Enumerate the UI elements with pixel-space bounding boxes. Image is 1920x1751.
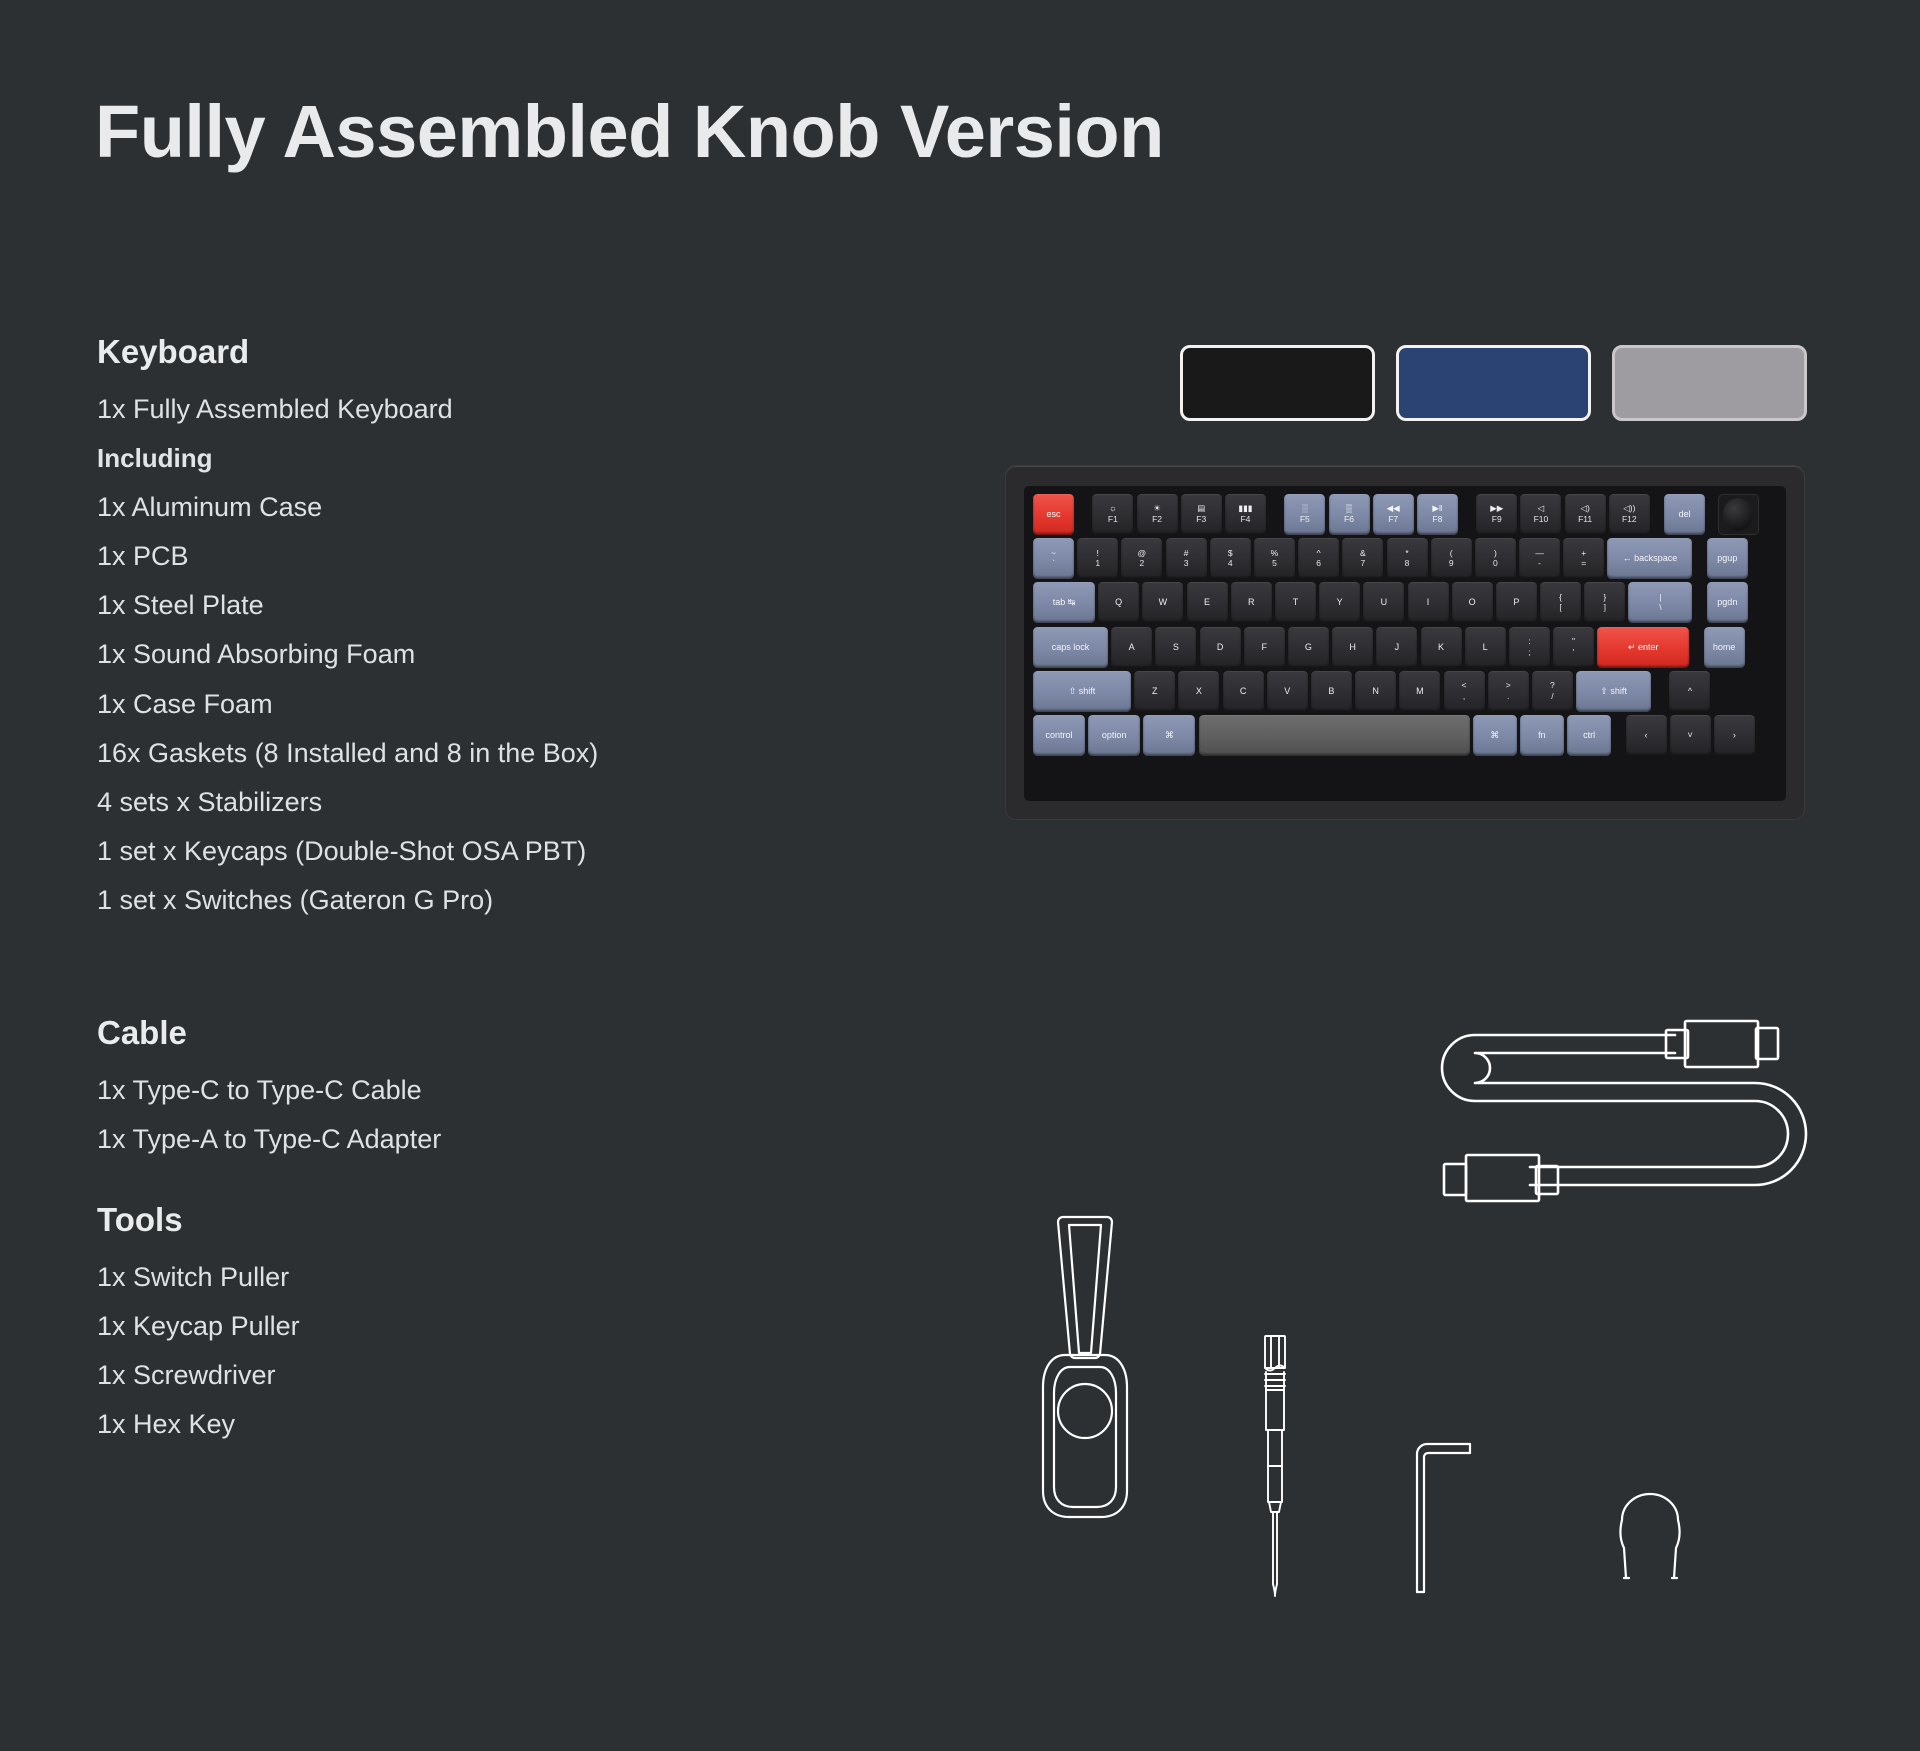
key-enter[interactable]: ↵ enter	[1597, 627, 1689, 668]
key-4[interactable]: $4	[1210, 538, 1251, 579]
color-swatch-shell-white-grey[interactable]	[1612, 345, 1807, 421]
key-bracket-right[interactable]: }]	[1584, 582, 1625, 623]
row-gap	[1461, 494, 1473, 535]
key-f4[interactable]: ▮▮▮F4	[1225, 494, 1266, 535]
arrow-up-icon: ^	[1688, 687, 1692, 696]
key-1[interactable]: !1	[1077, 538, 1118, 579]
hex-key-icon	[1412, 1432, 1482, 1602]
key-equal[interactable]: +=	[1563, 538, 1604, 579]
key-8[interactable]: *8	[1387, 538, 1428, 579]
backlight-up-icon: ▒	[1346, 504, 1352, 514]
keyboard-row-home: caps lock A S D F G H J K L :; "' ↵ ente…	[1033, 627, 1777, 668]
switch-puller-illustration	[1035, 1205, 1135, 1525]
row-gap	[1654, 671, 1666, 712]
key-f1[interactable]: ☼F1	[1092, 494, 1133, 535]
key-arrow-down[interactable]: ˅	[1670, 715, 1711, 756]
key-f8[interactable]: ▶‖F8	[1417, 494, 1458, 535]
hex-key-illustration	[1412, 1432, 1482, 1602]
key-r[interactable]: R	[1231, 582, 1272, 623]
mission-control-icon: ▤	[1197, 504, 1205, 514]
key-5[interactable]: %5	[1254, 538, 1295, 579]
key-tab[interactable]: tab ↹	[1033, 582, 1095, 623]
color-swatch-carbon-black[interactable]	[1180, 345, 1375, 421]
key-m[interactable]: M	[1399, 671, 1440, 712]
key-arrow-up[interactable]: ^	[1669, 671, 1710, 712]
spec-item: 1x Steel Plate	[97, 581, 917, 630]
key-q[interactable]: Q	[1098, 582, 1139, 623]
key-j[interactable]: J	[1376, 627, 1417, 668]
key-fn[interactable]: fn	[1520, 715, 1564, 756]
knob-dial-icon	[1723, 498, 1753, 531]
keyboard-row-bottom: control option ⌘ ⌘ fn ctrl ‹ ˅ ›	[1033, 715, 1777, 756]
key-b[interactable]: B	[1311, 671, 1352, 712]
row-gap	[1692, 627, 1700, 668]
key-backspace[interactable]: ← backspace	[1607, 538, 1692, 579]
key-f9[interactable]: ▶▶F9	[1476, 494, 1517, 535]
wire-keycap-puller-illustration	[1610, 1478, 1690, 1588]
section-spacer	[97, 1164, 917, 1198]
key-7[interactable]: &7	[1342, 538, 1383, 579]
key-2[interactable]: @2	[1121, 538, 1162, 579]
key-quote[interactable]: "'	[1553, 627, 1594, 668]
arrow-down-icon: ˅	[1688, 731, 1693, 740]
keycap-puller-icon	[1610, 1478, 1690, 1588]
key-comma[interactable]: <,	[1444, 671, 1485, 712]
key-home[interactable]: home	[1704, 627, 1745, 668]
key-shift-right[interactable]: ⇧ shift	[1576, 671, 1651, 712]
key-f12[interactable]: ◁))F12	[1609, 494, 1650, 535]
key-s[interactable]: S	[1155, 627, 1196, 668]
key-backslash[interactable]: |\	[1628, 582, 1692, 623]
rotary-knob[interactable]	[1718, 494, 1759, 535]
launchpad-icon: ▮▮▮	[1238, 504, 1252, 514]
row-gap	[1708, 494, 1714, 535]
section-heading-tools: Tools	[97, 1198, 917, 1243]
key-9[interactable]: (9	[1431, 538, 1472, 579]
key-arrow-right[interactable]: ›	[1714, 715, 1755, 756]
page-title: Fully Assembled Knob Version	[95, 95, 1164, 169]
key-ctrl-right[interactable]: ctrl	[1567, 715, 1611, 756]
spec-list: Keyboard 1x Fully Assembled Keyboard Inc…	[97, 330, 917, 1449]
row-gap	[1614, 715, 1622, 756]
cable-icon	[1420, 1005, 1810, 1220]
screwdriver-icon	[1255, 1330, 1295, 1600]
section-spacer	[97, 925, 917, 1011]
keyboard-image: esc ☼F1 ☀F2 ▤F3 ▮▮▮F4 ░F5 ▒F6 ◀◀F7 ▶‖F8 …	[1005, 465, 1805, 820]
spec-item: 1x PCB	[97, 532, 917, 581]
key-pgdn[interactable]: pgdn	[1707, 582, 1748, 623]
row-gap	[1077, 494, 1089, 535]
key-f6[interactable]: ▒F6	[1329, 494, 1370, 535]
key-f5[interactable]: ░F5	[1284, 494, 1325, 535]
key-option[interactable]: option	[1088, 715, 1140, 756]
key-spacebar[interactable]	[1199, 715, 1470, 756]
spec-item: 1x Case Foam	[97, 680, 917, 729]
section-keyboard: Keyboard 1x Fully Assembled Keyboard Inc…	[97, 330, 917, 925]
key-n[interactable]: N	[1355, 671, 1396, 712]
key-caps-lock[interactable]: caps lock	[1033, 627, 1108, 668]
spec-item: 16x Gaskets (8 Installed and 8 in the Bo…	[97, 729, 917, 778]
mute-icon: ◁	[1538, 504, 1545, 514]
volume-up-icon: ◁))	[1623, 504, 1635, 514]
product-spec-page: Fully Assembled Knob Version Keyboard 1x…	[0, 0, 1920, 1751]
key-f[interactable]: F	[1244, 627, 1285, 668]
key-arrow-left[interactable]: ‹	[1626, 715, 1667, 756]
key-control[interactable]: control	[1033, 715, 1085, 756]
section-cable: Cable 1x Type-C to Type-C Cable 1x Type-…	[97, 1011, 917, 1164]
key-i[interactable]: I	[1408, 582, 1449, 623]
key-semicolon[interactable]: :;	[1509, 627, 1550, 668]
section-heading-keyboard: Keyboard	[97, 330, 917, 375]
key-del[interactable]: del	[1664, 494, 1705, 535]
volume-down-icon: ◁)	[1580, 504, 1589, 514]
usb-c-cable-illustration	[1420, 1005, 1810, 1220]
key-l[interactable]: L	[1465, 627, 1506, 668]
section-heading-cable: Cable	[97, 1011, 917, 1056]
spec-item: 1x Keycap Puller	[97, 1302, 917, 1351]
spec-item: 1 set x Keycaps (Double-Shot OSA PBT)	[97, 827, 917, 876]
screwdriver-illustration	[1255, 1330, 1295, 1600]
keyboard-row-qwerty: tab ↹ Q W E R T Y U I O P {[ }] |\ pgdn	[1033, 582, 1777, 623]
key-backtick[interactable]: ~`	[1033, 538, 1074, 579]
key-d[interactable]: D	[1200, 627, 1241, 668]
key-k[interactable]: K	[1421, 627, 1462, 668]
arrow-right-icon: ›	[1733, 731, 1736, 740]
row-gap	[1696, 582, 1704, 623]
spec-item: 1x Type-C to Type-C Cable	[97, 1066, 917, 1115]
fast-forward-icon: ▶▶	[1490, 504, 1503, 514]
spec-item: 1x Screwdriver	[97, 1351, 917, 1400]
brightness-up-icon: ☀	[1153, 504, 1161, 514]
key-pgup[interactable]: pgup	[1707, 538, 1748, 579]
brightness-down-icon: ☼	[1109, 504, 1117, 514]
key-command-left[interactable]: ⌘	[1143, 715, 1195, 756]
key-f2[interactable]: ☀F2	[1137, 494, 1178, 535]
rewind-icon: ◀◀	[1387, 504, 1400, 514]
row-gap	[1653, 494, 1661, 535]
key-0[interactable]: )0	[1475, 538, 1516, 579]
play-pause-icon: ▶‖	[1432, 504, 1442, 514]
row-gap	[1696, 538, 1704, 579]
spec-item-including: Including	[97, 434, 917, 483]
switch-puller-icon	[1035, 1205, 1135, 1525]
row-gap	[1269, 494, 1281, 535]
key-e[interactable]: E	[1187, 582, 1228, 623]
key-g[interactable]: G	[1288, 627, 1329, 668]
arrow-left-icon: ‹	[1645, 731, 1648, 740]
key-c[interactable]: C	[1223, 671, 1264, 712]
key-y[interactable]: Y	[1319, 582, 1360, 623]
spec-item: 1x Switch Puller	[97, 1253, 917, 1302]
key-o[interactable]: O	[1452, 582, 1493, 623]
keyboard-plate: esc ☼F1 ☀F2 ▤F3 ▮▮▮F4 ░F5 ▒F6 ◀◀F7 ▶‖F8 …	[1024, 486, 1786, 801]
key-w[interactable]: W	[1142, 582, 1183, 623]
spec-item: 1x Aluminum Case	[97, 483, 917, 532]
key-v[interactable]: V	[1267, 671, 1308, 712]
key-command-right[interactable]: ⌘	[1473, 715, 1517, 756]
key-esc[interactable]: esc	[1033, 494, 1074, 535]
section-tools: Tools 1x Switch Puller 1x Keycap Puller …	[97, 1198, 917, 1449]
spec-item: 1x Fully Assembled Keyboard	[97, 385, 917, 434]
key-a[interactable]: A	[1111, 627, 1152, 668]
key-x[interactable]: X	[1178, 671, 1219, 712]
key-z[interactable]: Z	[1134, 671, 1175, 712]
color-swatch-group[interactable]	[1180, 345, 1807, 421]
key-period[interactable]: >.	[1488, 671, 1529, 712]
spec-item: 1x Sound Absorbing Foam	[97, 630, 917, 679]
keyboard-row-function: esc ☼F1 ☀F2 ▤F3 ▮▮▮F4 ░F5 ▒F6 ◀◀F7 ▶‖F8 …	[1033, 494, 1777, 535]
spec-item: 1 set x Switches (Gateron G Pro)	[97, 876, 917, 925]
key-minus[interactable]: —-	[1519, 538, 1560, 579]
key-f7[interactable]: ◀◀F7	[1373, 494, 1414, 535]
spec-item: 1x Hex Key	[97, 1400, 917, 1449]
key-t[interactable]: T	[1275, 582, 1316, 623]
color-swatch-navy-blue[interactable]	[1396, 345, 1591, 421]
key-slash[interactable]: ?/	[1532, 671, 1573, 712]
key-f10[interactable]: ◁F10	[1520, 494, 1561, 535]
key-6[interactable]: ^6	[1298, 538, 1339, 579]
spec-item: 4 sets x Stabilizers	[97, 778, 917, 827]
keyboard-row-numbers: ~` !1 @2 #3 $4 %5 ^6 &7 *8 (9 )0 —- += ←…	[1033, 538, 1777, 579]
key-u[interactable]: U	[1363, 582, 1404, 623]
key-shift-left[interactable]: ⇧ shift	[1033, 671, 1131, 712]
key-bracket-left[interactable]: {[	[1540, 582, 1581, 623]
key-h[interactable]: H	[1332, 627, 1373, 668]
backlight-down-icon: ░	[1302, 504, 1308, 514]
key-f11[interactable]: ◁)F11	[1565, 494, 1606, 535]
key-3[interactable]: #3	[1166, 538, 1207, 579]
key-p[interactable]: P	[1496, 582, 1537, 623]
spec-item: 1x Type-A to Type-C Adapter	[97, 1115, 917, 1164]
keyboard-row-shift: ⇧ shift Z X C V B N M <, >. ?/ ⇧ shift ^	[1033, 671, 1777, 712]
key-f3[interactable]: ▤F3	[1181, 494, 1222, 535]
